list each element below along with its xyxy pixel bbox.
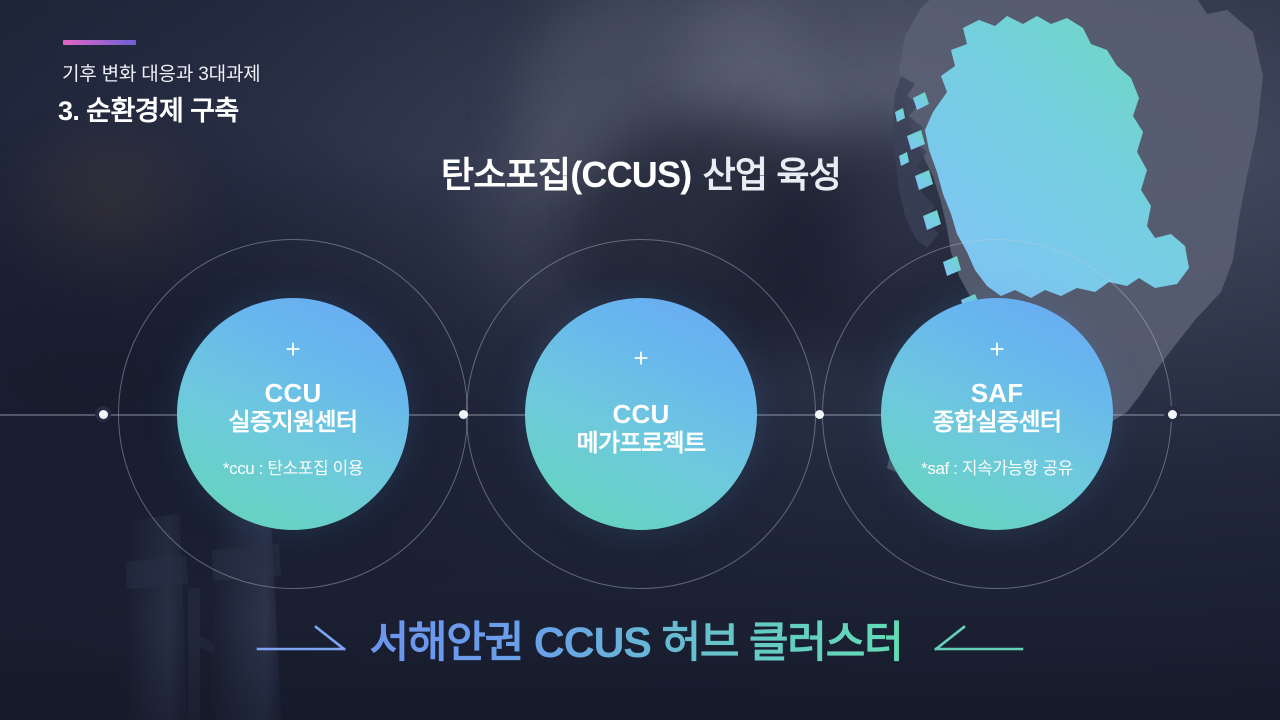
bubble-footnote: *ccu : 탄소포집 이용 (223, 454, 363, 479)
bubble-title-ko: 메가프로젝트 (577, 430, 706, 458)
title-rest: 산업 육성 (693, 154, 841, 195)
section-title: 3. 순환경제 구축 (58, 89, 239, 128)
bubble-ccu-center[interactable]: + CCU 실증지원센터 *ccu : 탄소포집 이용 (177, 298, 409, 530)
bubble-footnote: *saf : 지속가능항 공유 (921, 454, 1073, 479)
connector-node (1164, 406, 1180, 422)
connector-node (811, 406, 827, 422)
bubble-ccu-mega[interactable]: + CCU 메가프로젝트 (525, 298, 757, 530)
main-title: 탄소포집(CCUS) 산업 육성 (0, 146, 1280, 198)
bubble-title-en: CCU (265, 380, 322, 407)
connector-node (455, 406, 471, 422)
banner-title: 서해안권 CCUS 허브 클러스터 (370, 608, 903, 670)
eyebrow-text: 기후 변화 대응과 3대과제 (62, 59, 260, 86)
connector-node (95, 406, 111, 422)
accent-bar (63, 40, 136, 45)
plus-icon: + (633, 345, 648, 371)
arrow-right-line-icon (256, 622, 348, 656)
arrow-left-line-icon (924, 622, 1024, 656)
bubble-title-en: SAF (971, 380, 1024, 407)
bubble-title-ko: 종합실증센터 (933, 409, 1062, 437)
bubble-title-ko: 실증지원센터 (229, 409, 358, 437)
bubble-saf-center[interactable]: + SAF 종합실증센터 *saf : 지속가능항 공유 (881, 298, 1113, 530)
presentation-slide: 기후 변화 대응과 3대과제 3. 순환경제 구축 탄소포집(CCUS) 산업 … (0, 0, 1280, 720)
plus-icon: + (989, 336, 1004, 362)
title-highlight: 탄소포집(CCUS) (439, 146, 693, 198)
plus-icon: + (285, 336, 300, 362)
bubble-title-en: CCU (613, 401, 670, 428)
bottom-banner: 서해안권 CCUS 허브 클러스터 (0, 608, 1280, 670)
